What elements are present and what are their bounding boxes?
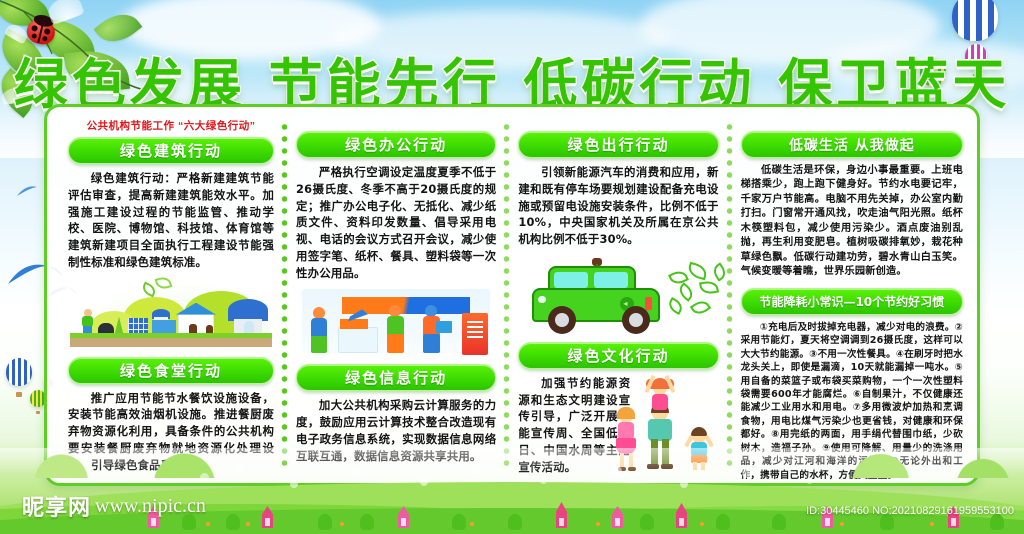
watermark-url-text: www.nipic.cn: [95, 495, 206, 518]
section-body-green-building: 绿色建筑行动：严格新建建筑节能评估审查，提高新建建筑能效水平。加强施工建设过程的…: [68, 170, 274, 271]
section-heading-energy-saving-tips: 节能降耗小常识—10个节约好习惯: [741, 288, 963, 315]
column-kicker: 公共机构节能工作 “六大绿色行动”: [68, 118, 274, 133]
car-wheel: [548, 306, 576, 334]
electric-car-illustration: [518, 254, 718, 340]
poster-canvas: 绿色发展 节能先行 低碳行动 保卫蓝天 公共机构节能工作 “六大绿色行动” 绿色…: [0, 0, 1024, 534]
column-green-building: 公共机构节能工作 “六大绿色行动” 绿色建筑行动 绿色建筑行动：严格新建建筑节能…: [57, 115, 285, 475]
image-id-tag: ID:30445460 NO:20210829161959553100: [806, 505, 1014, 517]
column-low-carbon-life: 低碳生活 从我做起 低碳生活是环保，身边小事最重要。上班电梯搭乘少，跑上跑下健身…: [730, 115, 967, 475]
section-body-low-carbon-life: 低碳生活是环保，身边小事最重要。上班电梯搭乘少，跑上跑下健身好。节约水电要记牢，…: [741, 164, 963, 280]
column-green-office: 绿色办公行动 严格执行空调设定温度夏季不低于26摄氏度、冬季不高于20摄氏度的规…: [285, 115, 507, 475]
family-girl-figure: [646, 375, 674, 415]
section-heading-green-building: 绿色建筑行动: [68, 137, 274, 164]
section-heading-green-office: 绿色办公行动: [296, 131, 496, 158]
folder-icon: [436, 321, 452, 333]
site-watermark: 昵享网 www.nipic.cn: [22, 490, 206, 522]
section-heading-low-carbon-life: 低碳生活 从我做起: [741, 131, 963, 158]
column-green-travel: 绿色出行行动 引领新能源汽车的消费和应用，新建和既有停车场要规划建设配备充电设施…: [507, 115, 729, 475]
watermark-cn-text: 昵享网: [22, 490, 91, 522]
section-body-green-office: 严格执行空调设定温度夏季不低于26摄氏度、冬季不高于20摄氏度的规定；推广办公电…: [296, 164, 496, 281]
car-wheel: [622, 306, 650, 334]
section-body-green-travel: 引领新能源汽车的消费和应用，新建和既有停车场要规划建设配备充电设施或预留电设施安…: [518, 164, 718, 248]
section-heading-green-culture: 绿色文化行动: [518, 342, 718, 369]
office-person-figure: [384, 305, 408, 353]
server-cabinet-icon: [462, 313, 488, 355]
bird-icon: [16, 185, 44, 199]
office-person-figure: [308, 307, 332, 353]
section-heading-green-information: 绿色信息行动: [296, 364, 496, 391]
section-heading-green-canteen: 绿色食堂行动: [68, 357, 274, 384]
pedestrian-figure: [82, 309, 96, 335]
office-people-illustration: [296, 287, 496, 359]
section-heading-green-travel: 绿色出行行动: [518, 131, 718, 158]
green-city-illustration: [68, 277, 274, 351]
hot-air-balloon-icon: [6, 358, 32, 392]
content-board: 公共机构节能工作 “六大绿色行动” 绿色建筑行动 绿色建筑行动：严格新建建筑节能…: [44, 104, 980, 486]
